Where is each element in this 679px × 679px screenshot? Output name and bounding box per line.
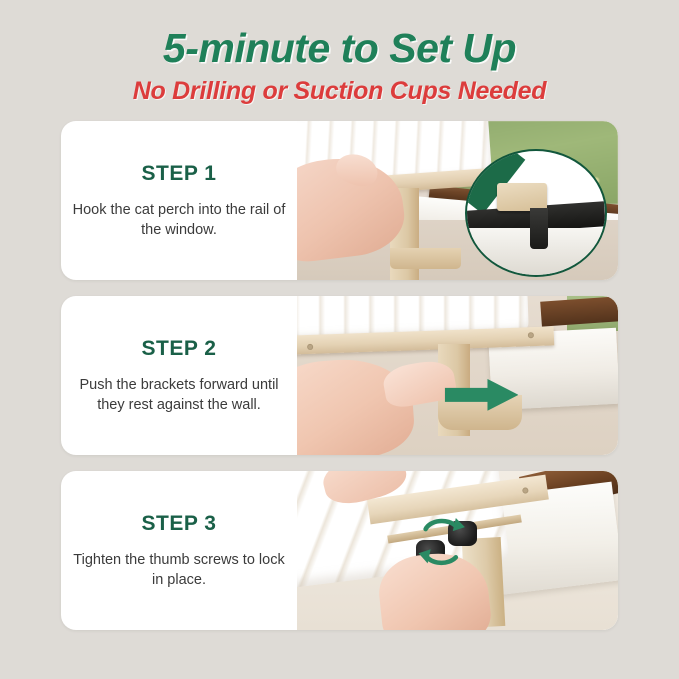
- inset-wood-block: [497, 183, 547, 210]
- page-title: 5-minute to Set Up: [0, 26, 679, 70]
- screw-icon: [306, 344, 312, 350]
- page-subtitle: No Drilling or Suction Cups Needed: [0, 77, 679, 106]
- steps-list: STEP 1 Hook the cat perch into the rail …: [0, 121, 679, 630]
- step-3-photo: [297, 471, 618, 630]
- step-card-1: STEP 1 Hook the cat perch into the rail …: [61, 121, 618, 280]
- step-3-description: Tighten the thumb screws to lock in plac…: [71, 550, 287, 590]
- header: 5-minute to Set Up No Drilling or Suctio…: [0, 0, 679, 106]
- step-1-photo: [297, 121, 618, 280]
- step-card-3: STEP 3 Tighten the thumb screws to lock …: [61, 471, 618, 630]
- step-2-text: STEP 2 Push the brackets forward until t…: [61, 296, 297, 455]
- inset-hook-clip: [530, 208, 548, 249]
- step-1-description: Hook the cat perch into the rail of the …: [71, 200, 287, 240]
- step-2-description: Push the brackets forward until they res…: [71, 375, 287, 415]
- step-3-text: STEP 3 Tighten the thumb screws to lock …: [61, 471, 297, 630]
- step-1-title: STEP 1: [142, 162, 217, 186]
- step-2-photo: [297, 296, 618, 455]
- screw-icon: [521, 488, 528, 495]
- step-card-2: STEP 2 Push the brackets forward until t…: [61, 296, 618, 455]
- step-2-title: STEP 2: [142, 337, 217, 361]
- detail-circle-inset: [465, 149, 607, 277]
- green-rotation-arrows-icon: [400, 509, 483, 569]
- hook-bracket: [390, 248, 461, 269]
- step-3-title: STEP 3: [142, 512, 217, 536]
- step-1-text: STEP 1 Hook the cat perch into the rail …: [61, 121, 297, 280]
- screw-icon: [527, 332, 533, 338]
